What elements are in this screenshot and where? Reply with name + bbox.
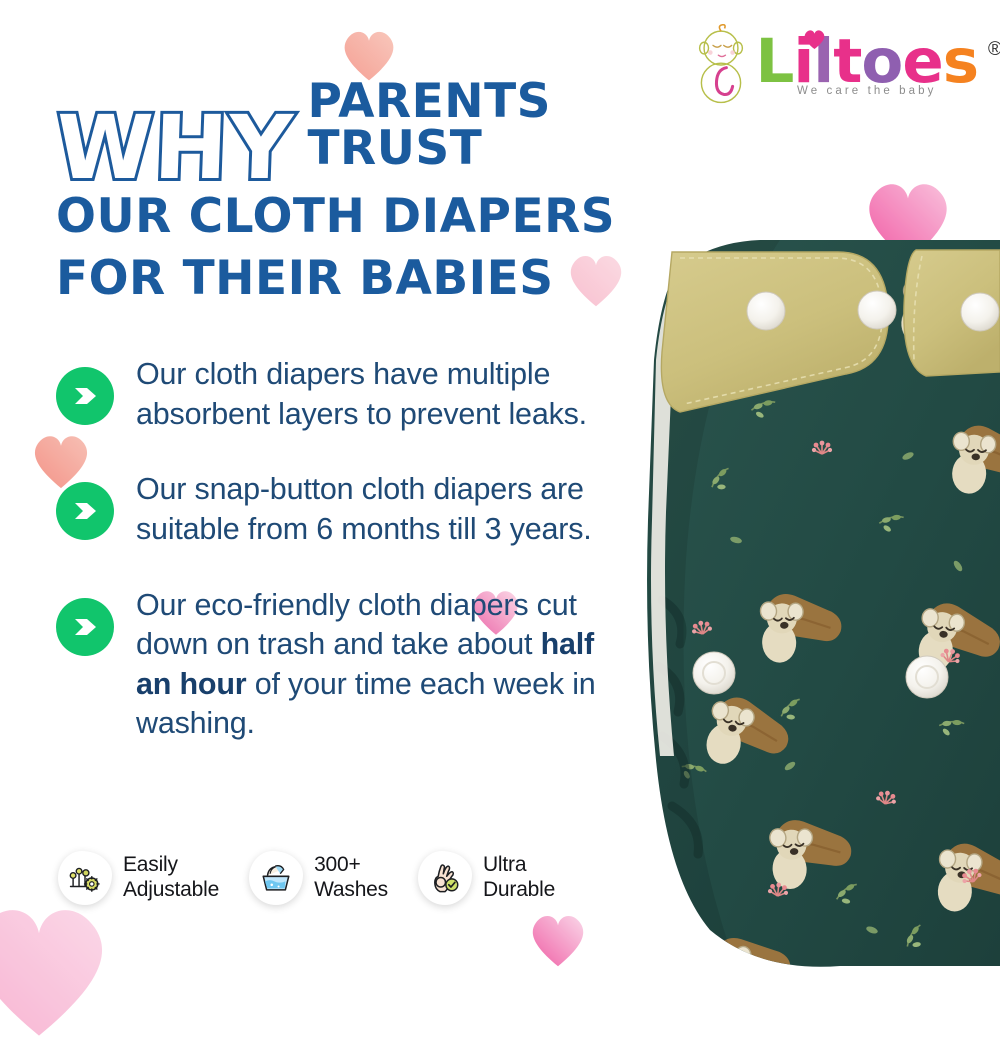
chevron-arrow-icon — [56, 367, 114, 425]
logo-letter-3: t — [833, 33, 861, 91]
baby-outline-icon — [694, 24, 748, 106]
brand-logo[interactable]: Liltoes We care the baby ® — [694, 24, 979, 106]
logo-wordmark: Liltoes — [756, 33, 979, 91]
benefit-text: Our snap-button cloth diapers are suitab… — [136, 470, 636, 549]
benefit-text-pre: Our eco-friendly cloth diapers cut down … — [136, 588, 577, 662]
benefits-list: Our cloth diapers have multiple absorben… — [56, 355, 636, 780]
ok-hand-check-icon — [418, 851, 472, 905]
chevron-arrow-icon — [56, 482, 114, 540]
snap-tab-right — [904, 250, 1000, 376]
feature-label: 300+ Washes — [314, 853, 388, 902]
feature-label: Ultra Durable — [483, 853, 555, 902]
heart-top-right — [862, 178, 954, 264]
heart-bottom-mid — [528, 912, 588, 968]
heart-bottom-left — [0, 900, 114, 1040]
benefit-item: Our eco-friendly cloth diapers cut down … — [56, 586, 636, 745]
headline-why: WHY — [55, 109, 295, 186]
registered-mark: ® — [988, 39, 1000, 61]
logo-letter-6: s — [943, 33, 978, 91]
gears-adjust-icon — [58, 851, 112, 905]
benefit-text: Our eco-friendly cloth diapers cut down … — [136, 586, 636, 745]
logo-heart-icon — [803, 29, 826, 50]
page-title: WHY PARENTS TRUST OUR CLOTH DIAPERS FOR … — [56, 78, 696, 310]
logo-letter-4: o — [861, 33, 902, 91]
feature-item: Ultra Durable — [418, 851, 555, 905]
benefit-text: Our cloth diapers have multiple absorben… — [136, 355, 636, 434]
headline-line3: FOR THEIR BABIES — [56, 248, 696, 310]
waist-snaps — [693, 652, 948, 698]
logo-letter-5: e — [902, 33, 942, 91]
chevron-arrow-icon — [56, 598, 114, 656]
benefit-item: Our snap-button cloth diapers are suitab… — [56, 470, 636, 549]
feature-label: Easily Adjustable — [123, 853, 219, 902]
feature-badges: Easily Adjustable300+ WashesUltra Durabl… — [58, 851, 555, 905]
snap-tab-left — [661, 252, 896, 412]
feature-item: Easily Adjustable — [58, 851, 219, 905]
feature-item: 300+ Washes — [249, 851, 388, 905]
logo-letter-0: L — [756, 33, 794, 91]
hand-wash-basin-icon — [249, 851, 303, 905]
headline-line1-rest: PARENTS TRUST — [307, 78, 696, 186]
benefit-item: Our cloth diapers have multiple absorben… — [56, 355, 636, 434]
